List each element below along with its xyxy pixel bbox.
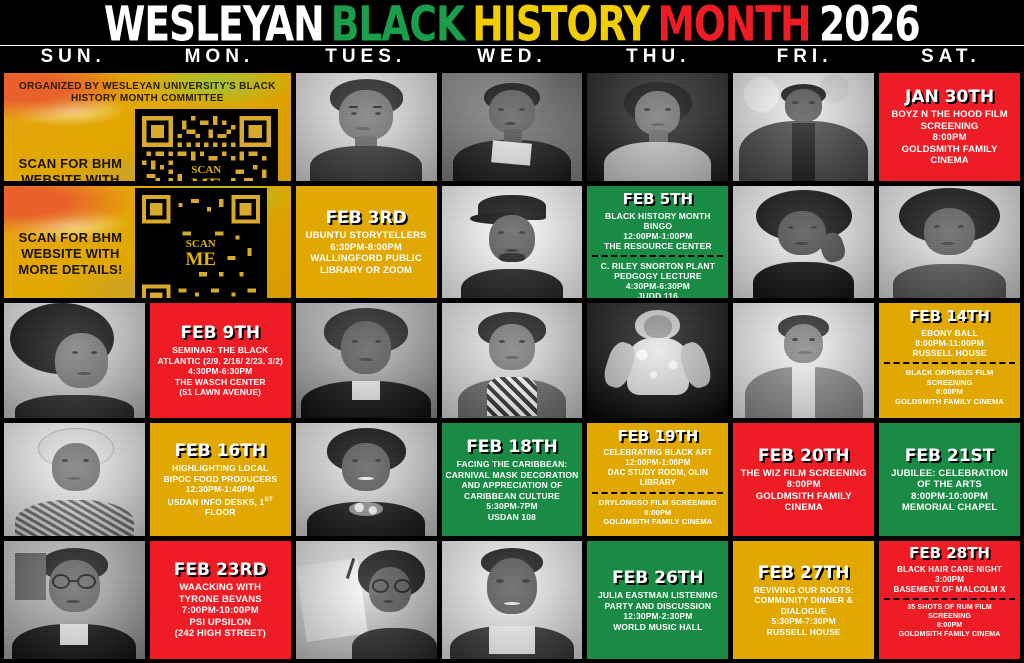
qr-code-icon xyxy=(142,195,260,298)
event-line: RUSSELL HOUSE xyxy=(736,627,871,638)
black-history-month-calendar-poster: WESLEYAN BLACK HISTORY MONTH 2026 SUN. M… xyxy=(0,0,1024,663)
event-line: DIALOGUE xyxy=(736,606,871,617)
portrait-tourmaline xyxy=(733,303,874,418)
event-body-feb14-primary: EBONY BALL 8:00PM-11:00PM RUSSELL HOUSE xyxy=(882,328,1017,358)
event-body-feb28-primary: BLACK HAIR CARE NIGHT 3:00PM BASEMENT OF… xyxy=(882,565,1017,595)
portrait-beyonce xyxy=(587,303,728,418)
event-tile-jan30: JAN 30TH BOYZ N THE HOOD FILM SCREENING … xyxy=(879,73,1020,181)
event-line: GOLDSMITH FAMILY CINEMA xyxy=(882,397,1017,407)
event-line-floor-pre: USDAN INFO DESKS, 1 xyxy=(168,497,265,507)
masthead-word-black: BLACK xyxy=(331,0,464,48)
qr-code-icon xyxy=(142,116,271,181)
event-line: 35 SHOTS OF RUM FILM xyxy=(882,603,1017,612)
event-tile-feb9: FEB 9TH SEMINAR: THE BLACK ATLANTIC (2/9… xyxy=(150,303,291,418)
portrait-angela-davis xyxy=(879,186,1020,298)
event-line: TYRONE BEVANS xyxy=(153,594,288,606)
portrait-cell-mlk xyxy=(442,73,583,181)
calendar-grid: ORGANIZED BY WESLEYAN UNIVERSITY'S BLACK… xyxy=(0,68,1024,663)
portrait-cell-elder-woman xyxy=(4,423,145,536)
portrait-cell-kehinde-wiley xyxy=(733,73,874,181)
portrait-cell-beyonce xyxy=(587,303,728,418)
event-body-feb23: WAACKING WITH TYRONE BEVANS 7:00PM-10:00… xyxy=(153,582,288,640)
event-tile-feb26: FEB 26TH JULIA EASTMAN LISTENING PARTY A… xyxy=(587,541,728,659)
event-line: WAACKING WITH xyxy=(153,582,288,594)
event-tile-feb28: FEB 28TH BLACK HAIR CARE NIGHT 3:00PM BA… xyxy=(879,541,1020,659)
event-tile-feb19: FEB 19TH CELEBRATING BLACK ART 12:00PM-1… xyxy=(587,423,728,536)
event-body-feb20: THE WIZ FILM SCREENING 8:00PM GOLDMSITH … xyxy=(736,468,871,514)
event-cell-feb20[interactable]: FEB 20TH THE WIZ FILM SCREENING 8:00PM G… xyxy=(733,423,874,536)
event-line: CELEBRATING BLACK ART xyxy=(590,448,725,458)
event-line: 6:30PM-8:00PM xyxy=(299,242,434,254)
portrait-cell-michelle-obama xyxy=(587,73,728,181)
event-line: 3:00PM xyxy=(882,575,1017,585)
event-line: DRYLONGSO FILM SCREENING xyxy=(590,498,725,508)
event-line: USDAN 108 xyxy=(445,512,580,523)
portrait-michelle-obama xyxy=(587,73,728,181)
portrait-frederick-douglass xyxy=(296,303,437,418)
portrait-cell-rosa-parks xyxy=(442,303,583,418)
portrait-martin-luther-king-jr xyxy=(442,73,583,181)
event-line: 12:30PM-1:40PM xyxy=(153,484,288,495)
event-line: JUDD 116 xyxy=(590,291,725,298)
portrait-cell-toni-morrison xyxy=(296,541,437,659)
qr-code-lower[interactable]: SCAN ME xyxy=(135,188,267,298)
event-line: GOLDMSITH FAMILY CINEMA xyxy=(590,517,725,527)
event-line: C. RILEY SNORTON PLANT xyxy=(590,261,725,271)
event-line-floor: USDAN INFO DESKS, 1ST FLOOR xyxy=(153,495,288,518)
event-tile-feb16: FEB 16TH HIGHLIGHTING LOCAL BIPOC FOOD P… xyxy=(150,423,291,536)
event-line: 5:30PM-7:30PM xyxy=(736,616,871,627)
event-line-floor-post: FLOOR xyxy=(205,507,236,517)
event-line-floor-sup: ST xyxy=(264,496,273,503)
masthead-word-month: MONTH xyxy=(657,0,810,48)
event-cell-feb5[interactable]: FEB 5TH BLACK HISTORY MONTH BINGO 12:00P… xyxy=(587,186,728,298)
event-line: OF THE ARTS xyxy=(882,479,1017,491)
event-tile-feb20: FEB 20TH THE WIZ FILM SCREENING 8:00PM G… xyxy=(733,423,874,536)
portrait-cell-stacey-abrams xyxy=(296,423,437,536)
event-line: THE WASCH CENTER xyxy=(153,377,288,388)
event-body-feb18: FACING THE CARIBBEAN: CARNIVAL MASK DECO… xyxy=(445,459,580,522)
portrait-cell-nina-simone xyxy=(733,186,874,298)
event-date-feb20: FEB 20TH xyxy=(758,447,850,465)
event-line: 8:00PM xyxy=(736,479,871,491)
info-qr-tile-lower: SCAN FOR BHM WEBSITE WITH MORE DETAILS! xyxy=(4,186,291,298)
event-line: 8:00PM xyxy=(590,508,725,518)
event-cell-jan30[interactable]: JAN 30TH BOYZ N THE HOOD FILM SCREENING … xyxy=(879,73,1020,181)
event-line: BOYZ N THE HOOD FILM xyxy=(882,109,1017,121)
masthead-word-history: HISTORY xyxy=(472,0,649,48)
event-line: 12:00PM-1:00PM xyxy=(590,458,725,468)
event-date-feb16: FEB 16TH xyxy=(174,442,266,460)
event-line: GOLDSMITH FAMILY xyxy=(882,144,1017,156)
event-body-feb9: SEMINAR: THE BLACK ATLANTIC (2/9, 2/16/ … xyxy=(153,345,288,398)
event-divider-feb19 xyxy=(592,492,723,494)
event-line: LIBRARY OR ZOOM xyxy=(299,265,434,277)
event-body-feb19-secondary: DRYLONGSO FILM SCREENING 8:00PM GOLDMSIT… xyxy=(590,498,725,527)
event-line: GOLDMSITH FAMILY CINEMA xyxy=(882,630,1017,639)
event-line: WORLD MUSIC HALL xyxy=(590,622,725,633)
portrait-toni-morrison xyxy=(296,541,437,659)
event-line: COMMUNITY DINNER & xyxy=(736,595,871,606)
event-cell-feb3[interactable]: FEB 3RD UBUNTU STORYTELLERS 6:30PM-8:00P… xyxy=(296,186,437,298)
portrait-angela-davis-profile xyxy=(4,303,145,418)
event-line: SCREENING xyxy=(882,612,1017,621)
event-tile-feb18: FEB 18TH FACING THE CARIBBEAN: CARNIVAL … xyxy=(442,423,583,536)
portrait-james-baldwin xyxy=(442,541,583,659)
event-date-feb18: FEB 18TH xyxy=(466,438,558,456)
event-line: MEMORIAL CHAPEL xyxy=(882,502,1017,514)
event-line: ATLANTIC (2/9, 2/16/ 2/23, 3/2) xyxy=(153,356,288,367)
portrait-cell-angela-davis-1 xyxy=(879,186,1020,298)
event-body-feb5-secondary: C. RILEY SNORTON PLANT PEDGOGY LECTURE 4… xyxy=(590,261,725,298)
event-date-feb14: FEB 14TH xyxy=(909,307,990,325)
portrait-cell-angela-davis-2 xyxy=(4,303,145,418)
event-line: REVIVING OUR ROOTS: xyxy=(736,585,871,596)
event-line: AND APPRECIATION OF xyxy=(445,480,580,491)
event-line: THE RESOURCE CENTER xyxy=(590,241,725,251)
event-body-feb3: UBUNTU STORYTELLERS 6:30PM-8:00PM WALLIN… xyxy=(299,230,434,276)
event-line: BASEMENT OF MALCOLM X xyxy=(882,585,1017,595)
event-line: 7:00PM-10:00PM xyxy=(153,605,288,617)
event-cell-feb23[interactable]: FEB 23RD WAACKING WITH TYRONE BEVANS 7:0… xyxy=(150,541,291,659)
event-line: CARNIVAL MASK DECORATION xyxy=(445,470,580,481)
event-line: JUBILEE: CELEBRATION xyxy=(882,468,1017,480)
event-date-feb3: FEB 3RD xyxy=(326,209,407,227)
event-cell-feb18[interactable]: FEB 18TH FACING THE CARIBBEAN: CARNIVAL … xyxy=(442,423,583,536)
masthead-word-wesleyan: WESLEYAN xyxy=(104,0,324,48)
event-body-feb27: REVIVING OUR ROOTS: COMMUNITY DINNER & D… xyxy=(736,585,871,638)
event-line: EBONY BALL xyxy=(882,328,1017,338)
event-date-jan30: JAN 30TH xyxy=(905,88,994,106)
event-divider-feb14 xyxy=(884,362,1015,364)
event-line: 8:00PM-11:00PM xyxy=(882,338,1017,348)
event-body-feb5-primary: BLACK HISTORY MONTH BINGO 12:00PM-1:00PM… xyxy=(590,211,725,251)
portrait-cell-maya-angelou xyxy=(296,73,437,181)
portrait-kehinde-wiley xyxy=(733,73,874,181)
event-date-feb5: FEB 5TH xyxy=(623,190,693,208)
masthead-word-year: 2026 xyxy=(819,0,920,48)
event-line: PARTY AND DISCUSSION xyxy=(590,601,725,612)
portrait-kendrick-lamar xyxy=(442,186,583,298)
poster-masthead: WESLEYAN BLACK HISTORY MONTH 2026 xyxy=(0,0,1024,45)
event-divider-feb5 xyxy=(592,255,723,257)
event-line: PSI UPSILON xyxy=(153,617,288,629)
event-cell-feb19[interactable]: FEB 19TH CELEBRATING BLACK ART 12:00PM-1… xyxy=(587,423,728,536)
event-tile-feb3: FEB 3RD UBUNTU STORYTELLERS 6:30PM-8:00P… xyxy=(296,186,437,298)
portrait-cell-tourmaline xyxy=(733,303,874,418)
event-cell-feb27[interactable]: FEB 27TH REVIVING OUR ROOTS: COMMUNITY D… xyxy=(733,541,874,659)
event-date-feb23: FEB 23RD xyxy=(174,561,267,579)
event-body-feb26: JULIA EASTMAN LISTENING PARTY AND DISCUS… xyxy=(590,590,725,632)
event-line: RUSSELL HOUSE xyxy=(882,348,1017,358)
event-tile-feb23: FEB 23RD WAACKING WITH TYRONE BEVANS 7:0… xyxy=(150,541,291,659)
event-line: 8:00PM xyxy=(882,621,1017,630)
event-cell-feb14[interactable]: FEB 14TH EBONY BALL 8:00PM-11:00PM RUSSE… xyxy=(879,303,1020,418)
event-line: BLACK ORPHEUS FILM SCREENING xyxy=(882,368,1017,387)
info-qr-cell-lower: SCAN FOR BHM WEBSITE WITH MORE DETAILS! xyxy=(4,186,291,298)
event-line: 12:00PM-1:00PM xyxy=(590,231,725,241)
portrait-cell-kendrick-lamar xyxy=(442,186,583,298)
event-line: (242 HIGH STREET) xyxy=(153,628,288,640)
event-line: CARIBBEAN CULTURE xyxy=(445,491,580,502)
event-line: THE WIZ FILM SCREENING xyxy=(736,468,871,480)
event-line: 8:00PM xyxy=(882,132,1017,144)
event-line: FACING THE CARIBBEAN: xyxy=(445,459,580,470)
event-line: BLACK HAIR CARE NIGHT xyxy=(882,565,1017,575)
event-tile-feb14: FEB 14TH EBONY BALL 8:00PM-11:00PM RUSSE… xyxy=(879,303,1020,418)
event-line: DAC STUDY ROOM, OLIN LIBRARY xyxy=(590,468,725,488)
event-tile-feb21: FEB 21ST JUBILEE: CELEBRATION OF THE ART… xyxy=(879,423,1020,536)
event-line: BLACK HISTORY MONTH BINGO xyxy=(590,211,725,231)
info-qr-cell: ORGANIZED BY WESLEYAN UNIVERSITY'S BLACK… xyxy=(4,73,291,181)
event-line: HIGHLIGHTING LOCAL xyxy=(153,463,288,474)
info-qr-tile: ORGANIZED BY WESLEYAN UNIVERSITY'S BLACK… xyxy=(4,73,291,181)
event-line: 8:00PM xyxy=(882,387,1017,397)
event-body-feb19-primary: CELEBRATING BLACK ART 12:00PM-1:00PM DAC… xyxy=(590,448,725,488)
event-line: BIPOC FOOD PRODUCERS xyxy=(153,474,288,485)
portrait-cell-malcolm-x xyxy=(4,541,145,659)
event-cell-feb28[interactable]: FEB 28TH BLACK HAIR CARE NIGHT 3:00PM BA… xyxy=(879,541,1020,659)
event-line: WALLINGFORD PUBLIC xyxy=(299,253,434,265)
portrait-malcolm-x xyxy=(4,541,145,659)
event-cell-feb21[interactable]: FEB 21ST JUBILEE: CELEBRATION OF THE ART… xyxy=(879,423,1020,536)
event-date-feb27: FEB 27TH xyxy=(758,564,850,582)
event-date-feb9: FEB 9TH xyxy=(180,324,260,342)
portrait-cell-frederick-douglass xyxy=(296,303,437,418)
event-date-feb28: FEB 28TH xyxy=(909,544,990,562)
portrait-maya-angelou xyxy=(296,73,437,181)
event-date-feb21: FEB 21ST xyxy=(905,447,995,465)
event-line: PEDGOGY LECTURE xyxy=(590,271,725,281)
qr-code[interactable]: SCAN ME xyxy=(135,109,278,181)
event-body-feb28-secondary: 35 SHOTS OF RUM FILM SCREENING 8:00PM GO… xyxy=(882,603,1017,639)
event-tile-feb5: FEB 5TH BLACK HISTORY MONTH BINGO 12:00P… xyxy=(587,186,728,298)
event-body-feb14-secondary: BLACK ORPHEUS FILM SCREENING 8:00PM GOLD… xyxy=(882,368,1017,406)
event-cell-feb16[interactable]: FEB 16TH HIGHLIGHTING LOCAL BIPOC FOOD P… xyxy=(150,423,291,536)
event-line: CINEMA xyxy=(736,502,871,514)
event-line: GOLDMSITH FAMILY xyxy=(736,491,871,503)
portrait-stacey-abrams xyxy=(296,423,437,536)
portrait-elder-woman xyxy=(4,423,145,536)
event-body-feb16: HIGHLIGHTING LOCAL BIPOC FOOD PRODUCERS … xyxy=(153,463,288,517)
portrait-rosa-parks xyxy=(442,303,583,418)
event-divider-feb28 xyxy=(884,598,1015,600)
event-body-jan30: BOYZ N THE HOOD FILM SCREENING 8:00PM GO… xyxy=(882,109,1017,167)
event-line: JULIA EASTMAN LISTENING xyxy=(590,590,725,601)
info-copy: SCAN FOR BHM WEBSITE WITH MORE DETAILS! xyxy=(10,156,131,181)
event-date-feb19: FEB 19TH xyxy=(617,427,698,445)
event-line: CINEMA xyxy=(882,155,1017,167)
event-line: 5:30PM-7PM xyxy=(445,501,580,512)
event-line: UBUNTU STORYTELLERS xyxy=(299,230,434,242)
event-body-feb21: JUBILEE: CELEBRATION OF THE ARTS 8:00PM-… xyxy=(882,468,1017,514)
event-line: SCREENING xyxy=(882,121,1017,133)
info-copy-lower: SCAN FOR BHM WEBSITE WITH MORE DETAILS! xyxy=(10,230,131,278)
event-cell-feb9[interactable]: FEB 9TH SEMINAR: THE BLACK ATLANTIC (2/9… xyxy=(150,303,291,418)
event-line: 4:30PM-6:30PM xyxy=(153,366,288,377)
portrait-cell-james-baldwin xyxy=(442,541,583,659)
event-line: 12:30PM-2:30PM xyxy=(590,611,725,622)
event-cell-feb26[interactable]: FEB 26TH JULIA EASTMAN LISTENING PARTY A… xyxy=(587,541,728,659)
event-line: SEMINAR: THE BLACK xyxy=(153,345,288,356)
event-line: 8:00PM-10:00PM xyxy=(882,491,1017,503)
event-line: (51 LAWN AVENUE) xyxy=(153,387,288,398)
info-heading: ORGANIZED BY WESLEYAN UNIVERSITY'S BLACK… xyxy=(10,81,285,105)
event-date-feb26: FEB 26TH xyxy=(612,569,704,587)
portrait-nina-simone xyxy=(733,186,874,298)
event-line: 4:30PM-6:30PM xyxy=(590,281,725,291)
event-tile-feb27: FEB 27TH REVIVING OUR ROOTS: COMMUNITY D… xyxy=(733,541,874,659)
